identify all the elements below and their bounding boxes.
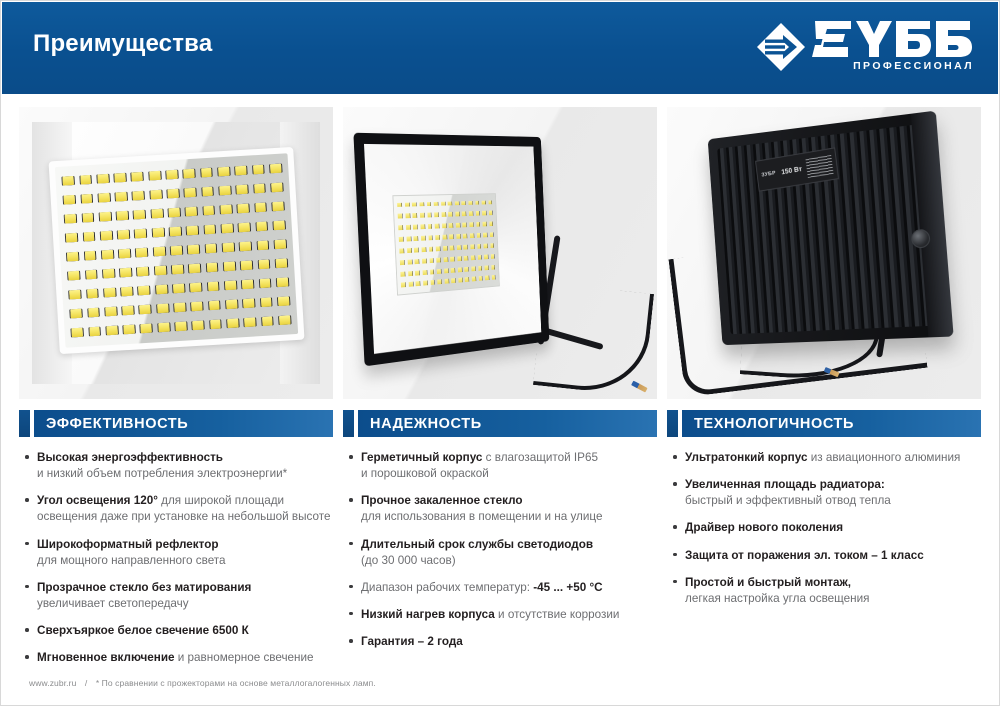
led-diode xyxy=(202,187,213,196)
led-diode xyxy=(102,268,113,277)
brand-logo: ПРОФЕССИОНАЛ xyxy=(756,20,974,78)
led-diode xyxy=(187,225,198,234)
advantage-list: Ультратонкий корпус из авиационного алюм… xyxy=(667,437,981,607)
section-title: НАДЕЖНОСТЬ xyxy=(370,416,482,432)
led-diode xyxy=(115,192,126,201)
led-diode xyxy=(397,203,401,208)
led-diode xyxy=(477,244,481,249)
advantage-text-bold: Гарантия – 2 года xyxy=(361,635,463,648)
led-diode xyxy=(434,213,438,218)
led-diode xyxy=(420,225,424,230)
led-diode xyxy=(427,224,431,229)
advantage-text-rest: для широкой площади xyxy=(158,494,284,507)
led-diode xyxy=(243,298,254,307)
advantage-text-rest: с влагозащитой IP65 xyxy=(482,451,598,464)
rear-housing: ЗУБР 150 Вт xyxy=(707,110,953,345)
led-diode xyxy=(406,237,410,242)
floodlight-housing xyxy=(353,133,549,366)
led-diode xyxy=(153,246,164,255)
led-diode xyxy=(456,234,460,239)
led-diode xyxy=(105,306,116,315)
led-diode xyxy=(400,260,404,265)
led-diode xyxy=(464,256,468,261)
led-diode xyxy=(84,251,95,260)
led-diode xyxy=(450,257,454,262)
led-diode xyxy=(477,255,481,260)
led-diode xyxy=(137,266,148,275)
led-diode xyxy=(488,211,492,216)
led-diode xyxy=(169,226,180,235)
led-diode xyxy=(226,299,237,308)
led-diode xyxy=(98,193,109,202)
led-diode xyxy=(136,247,147,256)
led-diode xyxy=(63,195,74,204)
led-diode xyxy=(455,223,459,228)
zubr-wordmark xyxy=(812,19,974,59)
advantage-text-bold: Прочное закаленное стекло xyxy=(361,494,523,507)
led-diode xyxy=(242,279,253,288)
led-diode xyxy=(259,278,270,287)
led-diode xyxy=(106,325,117,334)
led-diode xyxy=(121,286,132,295)
led-diode xyxy=(151,209,162,218)
led-diode xyxy=(447,201,451,206)
led-diode xyxy=(221,223,232,232)
section-header: ТЕХНОЛОГИЧНОСТЬ xyxy=(667,410,981,437)
led-diode xyxy=(408,282,412,287)
led-diode xyxy=(464,267,468,272)
led-diode xyxy=(489,222,493,227)
led-array xyxy=(392,194,500,296)
led-diode xyxy=(260,297,271,306)
led-diode xyxy=(433,202,437,207)
advantage-text-bold: Герметичный корпус xyxy=(361,451,482,464)
advantage-list: Высокая энергоэффективностьи низкий объе… xyxy=(19,437,333,666)
advantage-item: Герметичный корпус с влагозащитой IP65и … xyxy=(343,450,657,482)
led-diode xyxy=(429,258,433,263)
led-diode xyxy=(484,255,488,260)
led-diode xyxy=(183,169,194,178)
led-diode xyxy=(443,246,447,251)
led-array xyxy=(54,153,297,347)
led-diode xyxy=(427,213,431,218)
led-diode xyxy=(237,203,248,212)
advantage-item: Высокая энергоэффективностьи низкий объе… xyxy=(19,450,333,482)
led-diode xyxy=(258,259,269,268)
led-diode xyxy=(238,222,249,231)
led-diode xyxy=(80,175,91,184)
photo-floodlight-rear: ЗУБР 150 Вт xyxy=(667,107,981,399)
advantage-item: Простой и быстрый монтаж,легкая настройк… xyxy=(667,575,981,607)
led-diode xyxy=(412,202,416,207)
advantage-item: Защита от поражения эл. током – 1 класс xyxy=(667,548,981,564)
advantage-text-bold: Широкоформатный рефлектор xyxy=(37,538,218,551)
led-diode xyxy=(485,276,489,281)
led-diode xyxy=(69,289,80,298)
advantage-item: Мгновенное включение и равномерное свече… xyxy=(19,650,333,666)
led-diode xyxy=(443,257,447,262)
advantage-text-rest: и отсутствие коррозии xyxy=(495,608,620,621)
led-diode xyxy=(462,223,466,228)
section-accent-block xyxy=(19,410,30,437)
advantage-text-secondary: для использования в помещении и на улице xyxy=(361,509,657,525)
led-diode xyxy=(481,201,485,206)
led-diode xyxy=(414,248,418,253)
led-diode xyxy=(478,266,482,271)
advantage-text-bold: Низкий нагрев корпуса xyxy=(361,608,495,621)
advantage-item: Драйвер нового поколения xyxy=(667,520,981,536)
led-diode xyxy=(269,164,280,173)
advantage-text-bold: Прозрачное стекло без матирования xyxy=(37,581,251,594)
led-diode xyxy=(218,167,229,176)
led-diode xyxy=(399,249,403,254)
led-diode xyxy=(482,222,486,227)
led-diode xyxy=(271,182,282,191)
led-diode xyxy=(208,300,219,309)
led-diode xyxy=(170,245,181,254)
advantage-text-secondary: быстрый и эффективный отвод тепла xyxy=(685,493,981,509)
led-diode xyxy=(278,315,289,324)
led-diode xyxy=(277,296,288,305)
page-header: Преимущества ПРОФЕССИОНАЛ xyxy=(2,2,998,94)
led-diode xyxy=(428,236,432,241)
advantage-text-bold: -45 ... +50 °C xyxy=(533,581,602,594)
led-diode xyxy=(398,226,402,231)
led-diode xyxy=(244,317,255,326)
led-diode xyxy=(437,269,441,274)
led-diode xyxy=(413,236,417,241)
led-diode xyxy=(421,236,425,241)
advantage-text-secondary: и низкий объем потребления электроэнерги… xyxy=(37,466,333,482)
led-diode xyxy=(116,211,127,220)
led-diode xyxy=(70,308,81,317)
led-diode xyxy=(87,307,98,316)
led-diode xyxy=(476,222,480,227)
led-diode xyxy=(415,270,419,275)
mounting-bracket xyxy=(541,235,623,363)
led-diode xyxy=(99,212,110,221)
led-diode xyxy=(252,165,263,174)
led-diode xyxy=(435,235,439,240)
led-diode xyxy=(104,287,115,296)
led-diode xyxy=(205,243,216,252)
advantage-item: Гарантия – 2 года xyxy=(343,634,657,650)
led-diode xyxy=(470,245,474,250)
led-diode xyxy=(463,234,467,239)
led-diode xyxy=(97,174,108,183)
led-diode xyxy=(86,288,97,297)
led-diode xyxy=(448,224,452,229)
led-diode xyxy=(235,166,246,175)
led-diode xyxy=(71,327,82,336)
led-diode xyxy=(441,213,445,218)
led-diode xyxy=(174,302,185,311)
label-power: 150 Вт xyxy=(781,165,802,175)
advantage-text-bold: Высокая энергоэффективность xyxy=(37,451,223,464)
advantage-text-bold: Сверхъяркое белое свечение 6500 К xyxy=(37,624,249,637)
led-diode xyxy=(457,267,461,272)
led-diode xyxy=(236,184,247,193)
product-photo-strip: ЗУБР 150 Вт xyxy=(19,107,981,399)
led-diode xyxy=(457,256,461,261)
led-diode xyxy=(476,233,480,238)
led-diode xyxy=(468,201,472,206)
led-diode xyxy=(261,316,272,325)
led-diode xyxy=(155,284,166,293)
led-diode xyxy=(451,268,455,273)
led-diode xyxy=(478,277,482,282)
advantage-list: Герметичный корпус с влагозащитой IP65и … xyxy=(343,437,657,650)
led-diode xyxy=(239,241,250,250)
advantage-item: Угол освещения 120° для широкой площадио… xyxy=(19,493,333,525)
advantage-text-bold: Защита от поражения эл. током – 1 класс xyxy=(685,549,924,562)
led-diode xyxy=(442,235,446,240)
label-brand: ЗУБР xyxy=(761,170,776,178)
led-diode xyxy=(254,202,265,211)
advantage-text-bold: Угол освещения 120° xyxy=(37,494,158,507)
led-diode xyxy=(274,239,285,248)
led-diode xyxy=(484,265,488,270)
advantage-item: Увеличенная площадь радиатора:быстрый и … xyxy=(667,477,981,509)
led-diode xyxy=(220,204,231,213)
led-diode xyxy=(426,202,430,207)
advantage-text-secondary: освещения даже при установке на небольшо… xyxy=(37,509,333,525)
section-accent-block xyxy=(667,410,678,437)
led-diode xyxy=(173,283,184,292)
led-diode xyxy=(413,225,417,230)
advantage-item: Ультратонкий корпус из авиационного алюм… xyxy=(667,450,981,466)
led-diode xyxy=(191,301,202,310)
led-diode xyxy=(120,267,131,276)
led-diode xyxy=(189,263,200,272)
advantage-text-bold: Драйвер нового поколения xyxy=(685,521,843,534)
led-diode xyxy=(135,229,146,238)
advantage-text-lead: Диапазон рабочих температур: xyxy=(361,581,533,594)
led-diode xyxy=(456,245,460,250)
led-diode xyxy=(419,202,423,207)
led-diode xyxy=(203,205,214,214)
led-diode xyxy=(272,201,283,210)
led-diode xyxy=(207,281,218,290)
led-diode xyxy=(175,321,186,330)
led-diode xyxy=(444,279,448,284)
section-header: ЭФФЕКТИВНОСТЬ xyxy=(19,410,333,437)
led-diode xyxy=(223,261,234,270)
led-diode xyxy=(206,262,217,271)
photo-floodlight-front xyxy=(343,107,657,399)
led-diode xyxy=(140,323,151,332)
led-diode xyxy=(134,210,145,219)
led-diode xyxy=(132,191,143,200)
led-diode xyxy=(241,260,252,269)
led-diode xyxy=(436,258,440,263)
led-diode xyxy=(89,326,100,335)
led-diode xyxy=(416,282,420,287)
led-diode xyxy=(421,247,425,252)
advantage-text-rest: и равномерное свечение xyxy=(175,651,314,664)
led-diode xyxy=(167,189,178,198)
led-diode xyxy=(436,246,440,251)
led-diode xyxy=(82,213,93,222)
advantage-text-bold: Ультратонкий корпус xyxy=(685,451,807,464)
led-diode xyxy=(455,212,459,217)
led-diode xyxy=(185,207,196,216)
advantage-text-secondary: (до 30 000 часов) xyxy=(361,553,657,569)
led-diode xyxy=(119,248,130,257)
led-diode xyxy=(158,322,169,331)
led-diode xyxy=(67,252,78,261)
advantage-item: Прозрачное стекло без матированияувеличи… xyxy=(19,580,333,612)
led-diode xyxy=(471,277,475,282)
section-title-bar: НАДЕЖНОСТЬ xyxy=(358,410,657,437)
advantage-text-bold: Мгновенное включение xyxy=(37,651,175,664)
led-diode xyxy=(406,225,410,230)
led-diode xyxy=(66,233,77,242)
led-diode xyxy=(451,279,455,284)
led-diode xyxy=(408,271,412,276)
led-diode xyxy=(227,318,238,327)
led-diode xyxy=(222,242,233,251)
led-diode xyxy=(219,186,230,195)
advantage-item: Сверхъяркое белое свечение 6500 К xyxy=(19,623,333,639)
section-title: ЭФФЕКТИВНОСТЬ xyxy=(46,416,188,432)
advantage-item: Прочное закаленное стеклодля использован… xyxy=(343,493,657,525)
led-diode xyxy=(490,254,494,259)
led-diode xyxy=(154,265,165,274)
led-diode xyxy=(475,212,479,217)
advantage-item: Диапазон рабочих температур: -45 ... +50… xyxy=(343,580,657,596)
led-diode xyxy=(422,270,426,275)
led-diode xyxy=(131,172,142,181)
led-diode xyxy=(461,201,465,206)
column-reliability: НАДЕЖНОСТЬ Герметичный корпус с влагозащ… xyxy=(343,410,657,677)
advantage-text-bold: Увеличенная площадь радиатора: xyxy=(685,478,885,491)
led-diode xyxy=(401,283,405,288)
led-diode xyxy=(489,233,493,238)
led-diode xyxy=(123,324,134,333)
led-diode xyxy=(184,188,195,197)
advantage-text-secondary: легкая настройка угла освещения xyxy=(685,591,981,607)
led-diode xyxy=(139,304,150,313)
led-diode xyxy=(150,190,161,199)
advantage-text-rest: из авиационного алюминия xyxy=(807,451,960,464)
led-diode xyxy=(463,245,467,250)
led-diode xyxy=(441,202,445,207)
led-diode xyxy=(449,235,453,240)
led-diode xyxy=(192,320,203,329)
advantage-text-secondary: для мощного направленного света xyxy=(37,553,333,569)
section-accent-block xyxy=(343,410,354,437)
led-diode xyxy=(405,214,409,219)
led-diode xyxy=(398,214,402,219)
led-diode xyxy=(190,282,201,291)
led-diode xyxy=(114,173,125,182)
led-diode xyxy=(209,319,220,328)
page-title: Преимущества xyxy=(33,30,212,58)
led-diode xyxy=(399,237,403,242)
led-diode xyxy=(156,303,167,312)
footer-note: * По сравнении с прожекторами на основе … xyxy=(96,678,376,688)
page-footer: www.zubr.ru / * По сравнении с прожектор… xyxy=(29,678,376,688)
led-diode xyxy=(468,212,472,217)
advantage-text-bold: Длительный срок службы светодиодов xyxy=(361,538,593,551)
led-diode xyxy=(83,232,94,241)
advantages-page: Преимущества ПРОФЕССИОНАЛ xyxy=(0,0,1000,706)
led-diode xyxy=(166,170,177,179)
led-diode xyxy=(253,183,264,192)
led-diode xyxy=(458,278,462,283)
led-diode xyxy=(407,260,411,265)
brand-subtitle: ПРОФЕССИОНАЛ xyxy=(853,60,974,72)
led-diode xyxy=(434,224,438,229)
advantages-columns: ЭФФЕКТИВНОСТЬ Высокая энергоэффективност… xyxy=(19,410,981,677)
led-diode xyxy=(482,211,486,216)
advantage-text-secondary: увеличивает светопередачу xyxy=(37,596,333,612)
led-diode xyxy=(449,246,453,251)
led-diode xyxy=(204,224,215,233)
led-diode xyxy=(470,255,474,260)
led-diode xyxy=(273,220,284,229)
led-diode xyxy=(276,277,287,286)
footer-site[interactable]: www.zubr.ru xyxy=(29,678,76,688)
led-diode xyxy=(422,259,426,264)
led-diode xyxy=(483,233,487,238)
column-technology: ТЕХНОЛОГИЧНОСТЬ Ультратонкий корпус из а… xyxy=(667,410,981,677)
section-title-bar: ЭФФЕКТИВНОСТЬ xyxy=(34,410,333,437)
advantage-text-secondary: и порошковой окраской xyxy=(361,466,657,482)
led-diode xyxy=(448,212,452,217)
led-diode xyxy=(462,212,466,217)
led-diode xyxy=(68,271,79,280)
section-title: ТЕХНОЛОГИЧНОСТЬ xyxy=(694,416,854,432)
label-spec-lines xyxy=(806,154,834,177)
section-title-bar: ТЕХНОЛОГИЧНОСТЬ xyxy=(682,410,981,437)
advantage-item: Широкоформатный рефлектордля мощного нап… xyxy=(19,537,333,569)
led-diode xyxy=(428,247,432,252)
led-diode xyxy=(483,244,487,249)
led-panel-frame xyxy=(48,147,304,354)
led-diode xyxy=(152,227,163,236)
advantage-text-bold: Простой и быстрый монтаж, xyxy=(685,576,851,589)
led-diode xyxy=(256,221,267,230)
led-diode xyxy=(188,244,199,253)
led-diode xyxy=(488,200,492,205)
photo-led-closeup xyxy=(19,107,333,399)
led-diode xyxy=(149,171,160,180)
led-diode xyxy=(81,194,92,203)
led-diode xyxy=(200,168,211,177)
led-diode xyxy=(469,223,473,228)
led-diode xyxy=(171,264,182,273)
led-diode xyxy=(444,268,448,273)
led-diode xyxy=(475,201,479,206)
section-header: НАДЕЖНОСТЬ xyxy=(343,410,657,437)
led-diode xyxy=(469,234,473,239)
led-diode xyxy=(257,240,268,249)
led-diode xyxy=(430,281,434,286)
led-diode xyxy=(85,269,96,278)
led-diode xyxy=(400,271,404,276)
led-diode xyxy=(415,259,419,264)
led-diode xyxy=(122,305,133,314)
led-diode xyxy=(117,230,128,239)
led-diode xyxy=(412,214,416,219)
led-diode xyxy=(490,243,494,248)
led-diode xyxy=(423,281,427,286)
led-diode xyxy=(101,250,112,259)
led-diode xyxy=(471,266,475,271)
led-diode xyxy=(405,202,409,207)
